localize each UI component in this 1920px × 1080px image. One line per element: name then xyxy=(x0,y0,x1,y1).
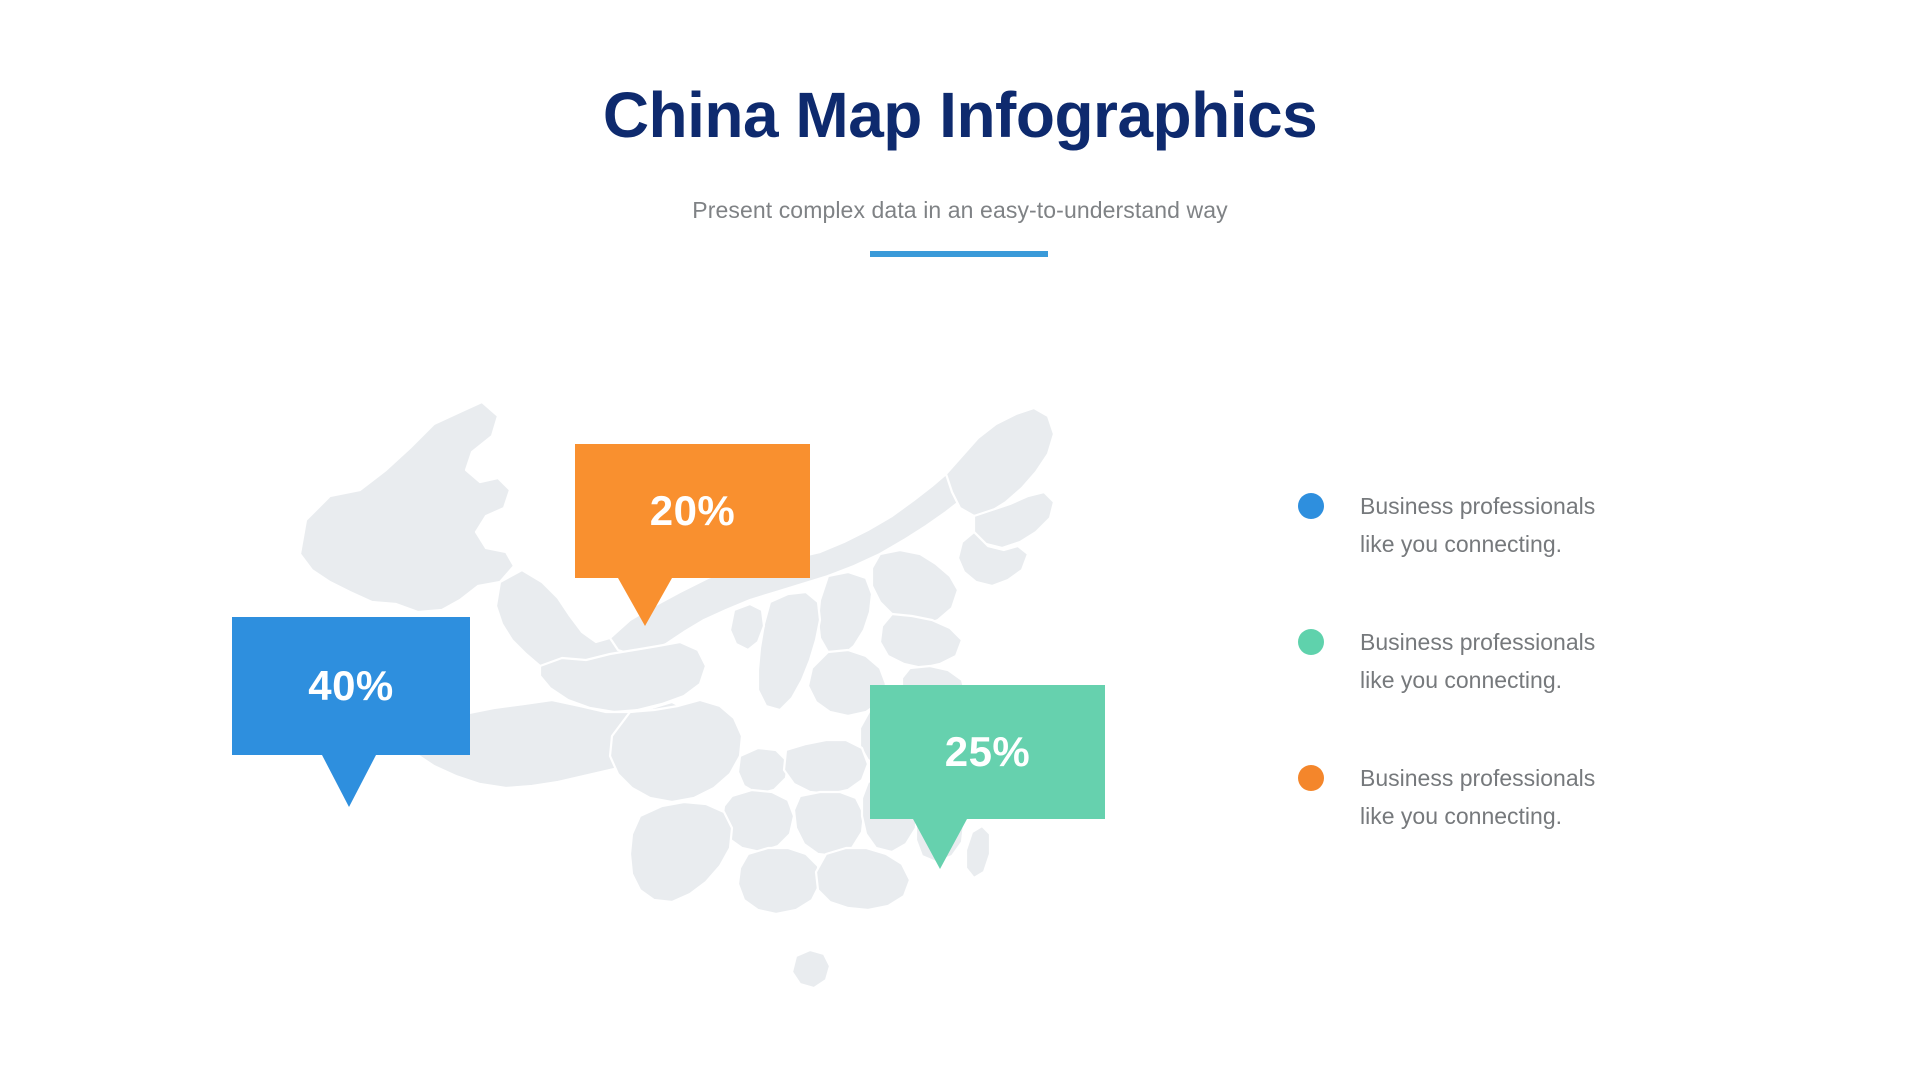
callout-pointer-blue xyxy=(322,755,376,807)
legend-label-2-line2: like you connecting. xyxy=(1360,661,1690,699)
callout-value-green: 25% xyxy=(945,731,1031,773)
province-guizhou xyxy=(722,790,794,852)
callout-marker-orange[interactable]: 20% xyxy=(575,444,810,578)
slide-canvas: China Map Infographics Present complex d… xyxy=(0,0,1920,1080)
title-divider xyxy=(870,251,1048,257)
callout-value-orange: 20% xyxy=(650,490,736,532)
callout-marker-green[interactable]: 25% xyxy=(870,685,1105,819)
province-hunan xyxy=(794,792,864,856)
province-yunnan xyxy=(630,802,732,902)
province-hainan xyxy=(792,950,830,988)
page-title: China Map Infographics xyxy=(0,82,1920,149)
legend-label-2-line1: Business professionals xyxy=(1360,629,1595,655)
callout-marker-blue[interactable]: 40% xyxy=(232,617,470,755)
legend-item-1[interactable]: Business professionals like you connecti… xyxy=(1298,487,1768,549)
province-xinjiang xyxy=(300,402,514,612)
province-shanxi xyxy=(818,572,872,656)
province-hubei xyxy=(784,740,868,794)
legend-label-3-line1: Business professionals xyxy=(1360,765,1595,791)
province-taiwan xyxy=(966,826,990,878)
legend-item-3[interactable]: Business professionals like you connecti… xyxy=(1298,759,1768,821)
province-hebei xyxy=(872,550,958,626)
legend-label-3-line2: like you connecting. xyxy=(1360,797,1690,835)
legend-item-2[interactable]: Business professionals like you connecti… xyxy=(1298,623,1768,685)
legend-label-1-line1: Business professionals xyxy=(1360,493,1595,519)
province-guangdong xyxy=(816,848,910,910)
legend-label-2: Business professionals like you connecti… xyxy=(1360,623,1690,699)
province-sichuan xyxy=(610,700,742,802)
legend-label-3: Business professionals like you connecti… xyxy=(1360,759,1690,835)
province-shandong xyxy=(880,614,962,668)
callout-pointer-orange xyxy=(618,578,672,626)
legend-label-1: Business professionals like you connecti… xyxy=(1360,487,1690,563)
callout-box-green: 25% xyxy=(870,685,1105,819)
legend-dot-icon xyxy=(1298,629,1324,655)
province-guangxi xyxy=(738,848,820,914)
legend-label-1-line2: like you connecting. xyxy=(1360,525,1690,563)
legend-dot-icon xyxy=(1298,765,1324,791)
callout-pointer-green xyxy=(913,819,967,869)
callout-box-orange: 20% xyxy=(575,444,810,578)
province-chongqing xyxy=(738,748,788,794)
callout-box-blue: 40% xyxy=(232,617,470,755)
province-ningxia xyxy=(730,604,764,650)
page-subtitle: Present complex data in an easy-to-under… xyxy=(0,196,1920,226)
legend-dot-icon xyxy=(1298,493,1324,519)
legend: Business professionals like you connecti… xyxy=(1298,487,1768,821)
callout-value-blue: 40% xyxy=(308,665,394,707)
